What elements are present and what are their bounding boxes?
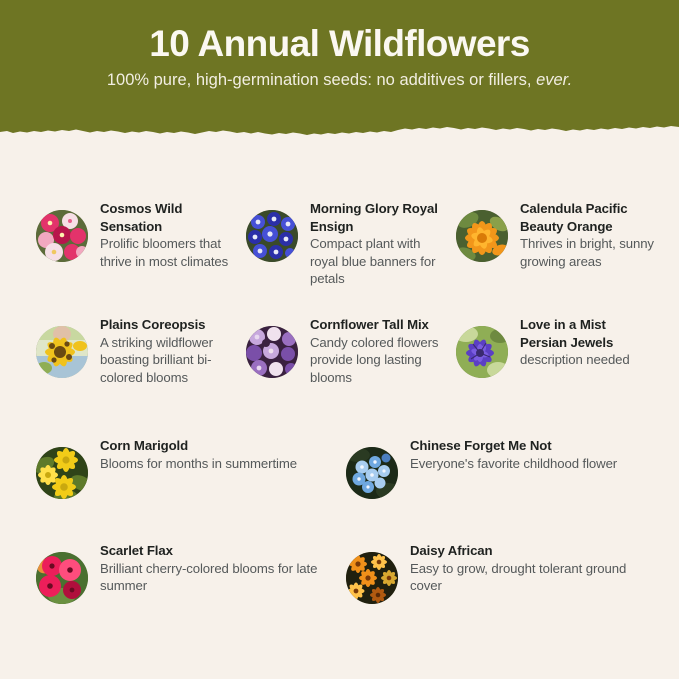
flower-name: Love in a Mist Persian Jewels [520,316,656,351]
flower-list: Cosmos Wild Sensation Prolific bloomers … [0,141,679,679]
item-text-block: Plains Coreopsis A striking wildflower b… [100,316,236,386]
item-text-block: Calendula Pacific Beauty Orange Thrives … [520,200,656,270]
love-in-a-mist-persian-jewels-thumbnail [456,326,508,378]
torn-paper-edge [0,119,679,141]
subtitle-main-text: 100% pure, high-germination seeds: no ad… [107,71,536,89]
wildflower-seed-infographic: 10 Annual Wildflowers 100% pure, high-ge… [0,0,679,679]
flower-description: description needed [520,351,656,369]
item-text-block: Scarlet Flax Brilliant cherry-colored bl… [100,542,346,595]
calendula-pacific-beauty-orange-thumbnail [456,210,508,262]
header-text-block: 10 Annual Wildflowers 100% pure, high-ge… [0,0,679,91]
flower-description: Blooms for months in summertime [100,455,297,473]
item-text-block: Morning Glory Royal Ensign Compact plant… [310,200,446,288]
item-text-block: Corn Marigold Blooms for months in summe… [100,437,297,472]
list-item[interactable]: Calendula Pacific Beauty Orange Thrives … [456,200,656,270]
item-text-block: Cornflower Tall Mix Candy colored flower… [310,316,446,386]
flower-description: Everyone's favorite childhood flower [410,455,617,473]
list-item[interactable]: Morning Glory Royal Ensign Compact plant… [246,200,446,288]
cosmos-wild-sensation-thumbnail [36,210,88,262]
subtitle-emphasis-text: ever. [536,71,572,89]
item-text-block: Love in a Mist Persian Jewels descriptio… [520,316,656,369]
item-text-block: Chinese Forget Me Not Everyone's favorit… [410,437,617,472]
item-text-block: Daisy African Easy to grow, drought tole… [410,542,656,595]
flower-description: Compact plant with royal blue banners fo… [310,235,446,288]
flower-name: Plains Coreopsis [100,316,236,334]
list-item[interactable]: Corn Marigold Blooms for months in summe… [36,437,346,499]
flower-description: Easy to grow, drought tolerant ground co… [410,560,656,595]
plains-coreopsis-thumbnail [36,326,88,378]
flower-name: Calendula Pacific Beauty Orange [520,200,656,235]
list-item[interactable]: Cornflower Tall Mix Candy colored flower… [246,316,446,386]
cornflower-tall-mix-thumbnail [246,326,298,378]
daisy-african-thumbnail [346,552,398,604]
list-item[interactable]: Cosmos Wild Sensation Prolific bloomers … [36,200,236,270]
flower-description: Candy colored flowers provide long lasti… [310,334,446,387]
flower-name: Corn Marigold [100,437,297,455]
corn-marigold-thumbnail [36,447,88,499]
flower-name: Morning Glory Royal Ensign [310,200,446,235]
flower-description: A striking wildflower boasting brilliant… [100,334,236,387]
flower-description: Prolific bloomers that thrive in most cl… [100,235,236,270]
flower-name: Cosmos Wild Sensation [100,200,236,235]
flower-name: Daisy African [410,542,656,560]
header-banner: 10 Annual Wildflowers 100% pure, high-ge… [0,0,679,141]
flower-description: Thrives in bright, sunny growing areas [520,235,656,270]
chinese-forget-me-not-thumbnail [346,447,398,499]
page-title: 10 Annual Wildflowers [0,22,679,66]
item-text-block: Cosmos Wild Sensation Prolific bloomers … [100,200,236,270]
flower-description: Brilliant cherry-colored blooms for late… [100,560,346,595]
list-item[interactable]: Plains Coreopsis A striking wildflower b… [36,316,236,386]
list-item[interactable]: Scarlet Flax Brilliant cherry-colored bl… [36,542,346,604]
flower-name: Scarlet Flax [100,542,346,560]
scarlet-flax-thumbnail [36,552,88,604]
list-item[interactable]: Daisy African Easy to grow, drought tole… [346,542,656,604]
page-subtitle: 100% pure, high-germination seeds: no ad… [0,69,679,91]
flower-name: Cornflower Tall Mix [310,316,446,334]
flower-name: Chinese Forget Me Not [410,437,617,455]
list-item[interactable]: Chinese Forget Me Not Everyone's favorit… [346,437,656,499]
list-item[interactable]: Love in a Mist Persian Jewels descriptio… [456,316,656,378]
morning-glory-royal-ensign-thumbnail [246,210,298,262]
